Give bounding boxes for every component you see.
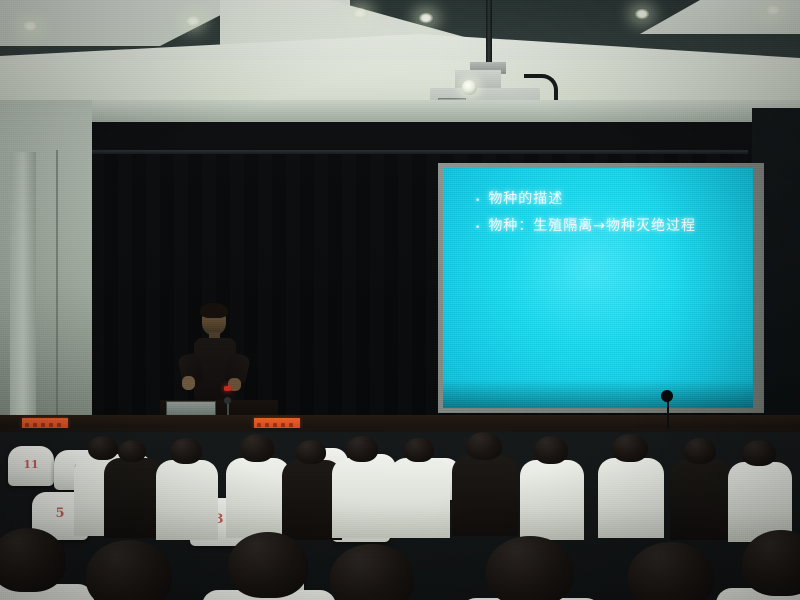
- audience-head: [228, 532, 308, 598]
- audience-shoulders: [226, 458, 290, 538]
- audience-head: [86, 540, 172, 600]
- audience-head: [240, 434, 274, 462]
- upper-wall-strip: [0, 100, 800, 124]
- audience-head: [0, 528, 66, 592]
- slide-line-text: 物种的描述: [488, 188, 563, 208]
- slide-content: • 物种的描述 • 物种：生殖隔离→物种灭绝过程: [455, 178, 747, 398]
- audience-shoulders: [452, 456, 518, 536]
- audience-shoulders: [332, 458, 394, 538]
- lecture-hall-photo: • 物种的描述 • 物种：生殖隔离→物种灭绝过程 119753531311: [0, 0, 800, 600]
- audience-shoulders: [520, 460, 584, 540]
- bullet-icon: •: [475, 196, 481, 206]
- audience-head: [118, 440, 146, 462]
- seat-number: 5: [55, 506, 64, 521]
- presenter-wrist-device: [224, 386, 231, 391]
- audience-head: [88, 436, 118, 460]
- audience-shoulders: [670, 460, 732, 540]
- downlight-icon: [634, 8, 650, 20]
- downlight-icon: [22, 20, 38, 32]
- audience-head: [612, 434, 648, 462]
- slide-bullet-line: • 物种的描述: [475, 188, 747, 208]
- downlight-icon: [765, 4, 781, 16]
- presenter-hair: [200, 303, 228, 318]
- audience-area: 119753531311: [0, 432, 800, 600]
- audience-head: [346, 436, 378, 462]
- audience-head: [742, 440, 776, 466]
- slide-line-text: 物种：生殖隔离→物种灭绝过程: [488, 215, 696, 235]
- audience-head: [534, 436, 568, 464]
- audience-head: [170, 438, 202, 464]
- projector-mount-pole: [486, 0, 492, 68]
- seat-number: 11: [23, 458, 38, 471]
- podium-microphone-icon: [224, 397, 231, 404]
- audience-shoulders: [390, 458, 450, 538]
- left-wall-seam: [56, 150, 58, 440]
- audience-shoulders: [104, 458, 162, 538]
- left-wall-pillar: [10, 152, 36, 442]
- presenter-left-hand: [182, 376, 195, 390]
- audience-head: [684, 438, 716, 464]
- downlight-icon: [185, 15, 201, 27]
- audience-microphone-icon: [661, 390, 673, 402]
- audience-shoulders: [598, 458, 664, 538]
- audience-head: [486, 536, 574, 600]
- bullet-icon: •: [475, 223, 481, 233]
- audience-head: [330, 544, 414, 600]
- audience-head: [628, 542, 714, 600]
- slide-bullet-line: • 物种：生殖隔离→物种灭绝过程: [475, 215, 747, 235]
- audience-seat: 11: [8, 446, 54, 486]
- audience-head: [296, 440, 326, 464]
- audience-head: [466, 432, 502, 460]
- audience-shoulders: [156, 460, 218, 540]
- projector-lens-icon: [462, 80, 477, 95]
- downlight-icon: [418, 12, 434, 24]
- audience-head: [404, 438, 434, 462]
- downlight-icon: [352, 7, 368, 19]
